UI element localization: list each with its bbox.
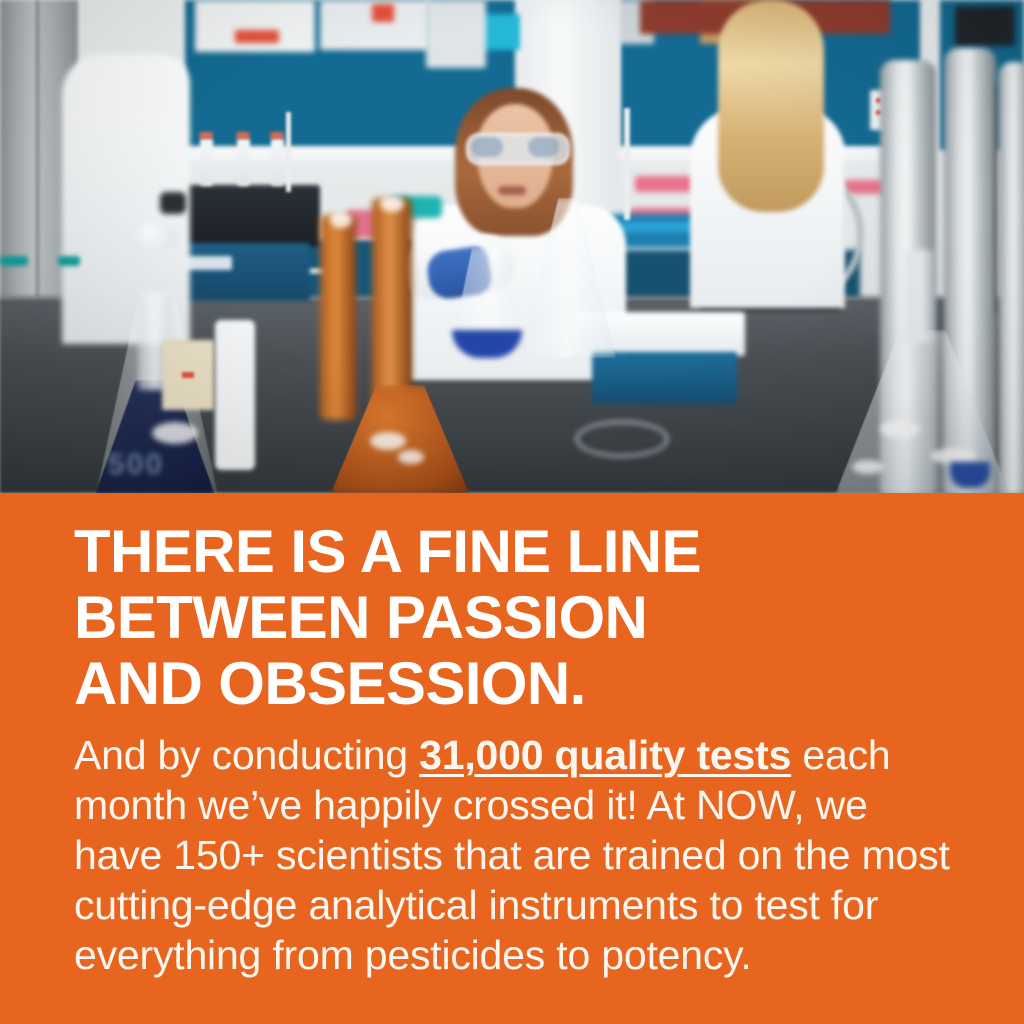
shelf-label-red: [235, 30, 279, 43]
flask-volume-label: 500: [108, 448, 164, 482]
teal-pipette-mark-2: [58, 256, 80, 266]
device-blue-stripe: [620, 222, 696, 232]
body-copy: And by conducting 31,000 quality tests e…: [74, 730, 954, 980]
scientist-3-hand-dark: [160, 192, 186, 214]
shelf-label-red-2: [372, 4, 394, 22]
test-tube-cap-3: [236, 132, 250, 139]
teal-pipette-mark-1: [0, 256, 28, 266]
right-flask-neck: [905, 250, 935, 342]
petri-dish: [575, 420, 669, 458]
right-flask-highlight-1: [880, 420, 920, 438]
shelf-rails: [426, 0, 486, 68]
amber-glass-column-1: [320, 215, 356, 420]
social-graphic-canvas: 500 THERE IS A FINE LINE BETWEEN PASSION…: [0, 0, 1024, 1024]
retort-stand-rod-right: [286, 112, 291, 192]
amber-column-highlight-2: [380, 196, 404, 212]
bench-scale-base: [592, 352, 737, 404]
test-tube-2: [200, 138, 213, 186]
test-tube-4: [271, 138, 284, 186]
plate-indicator: [182, 372, 194, 378]
amber-column-highlight: [330, 212, 352, 228]
right-flask-blue-liquid: [950, 462, 990, 488]
scientist-1-mouth: [498, 186, 526, 195]
stand-rod-right: [624, 108, 630, 220]
gas-cylinder-3: [998, 62, 1024, 493]
goggle-lens-right: [528, 137, 559, 157]
amber-flask-highlight-1: [370, 432, 406, 450]
test-tube-3: [237, 138, 250, 186]
foreground-white-bottle: [215, 320, 255, 470]
right-flask-highlight-3: [852, 460, 884, 474]
test-tube-cap-4: [270, 132, 284, 139]
goggle-lens-left: [472, 137, 503, 157]
flask-500-lip: [131, 222, 177, 252]
body-copy-part-1: And by conducting: [74, 732, 419, 778]
amber-flask-highlight-2: [398, 450, 424, 464]
test-tube-cap-2: [199, 132, 213, 139]
shelf-box-white-1: [195, 0, 315, 52]
scientist-2-hair: [718, 0, 824, 212]
orange-message-panel: THERE IS A FINE LINE BETWEEN PASSION AND…: [0, 493, 1024, 1024]
laboratory-scientists-photo: 500: [0, 0, 1024, 493]
body-copy-highlight: 31,000 quality tests: [419, 732, 791, 778]
page-title: THERE IS A FINE LINE BETWEEN PASSION AND…: [74, 519, 954, 717]
flask-500-highlight: [152, 422, 198, 444]
shelf-dark-right: [955, 6, 1015, 46]
